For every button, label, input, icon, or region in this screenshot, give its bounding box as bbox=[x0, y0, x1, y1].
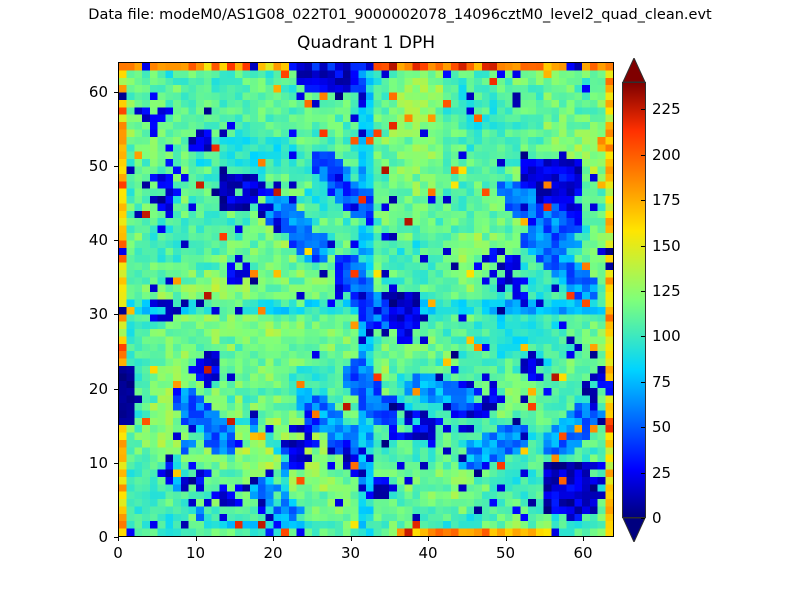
colorbar-tick-label: 50 bbox=[652, 418, 671, 436]
colorbar-gradient bbox=[623, 83, 645, 517]
y-tick-mark bbox=[114, 92, 118, 93]
x-tick-mark bbox=[118, 537, 119, 541]
colorbar-tick-mark bbox=[641, 518, 645, 519]
heatmap-image[interactable] bbox=[119, 63, 613, 536]
colorbar[interactable] bbox=[622, 58, 646, 542]
colorbar-tick-label: 200 bbox=[652, 146, 681, 164]
x-tick-mark bbox=[583, 537, 584, 541]
colorbar-extend-max-arrow bbox=[622, 58, 646, 83]
x-tick-mark bbox=[273, 537, 274, 541]
colorbar-extend-min-arrow bbox=[622, 517, 646, 542]
y-tick-label: 10 bbox=[66, 454, 108, 472]
colorbar-tick-mark bbox=[641, 336, 645, 337]
y-tick-mark bbox=[114, 314, 118, 315]
x-tick-label: 60 bbox=[573, 544, 592, 562]
x-tick-label: 0 bbox=[113, 544, 123, 562]
colorbar-tick-label: 0 bbox=[652, 509, 662, 527]
y-tick-label: 20 bbox=[66, 380, 108, 398]
x-tick-label: 10 bbox=[186, 544, 205, 562]
x-tick-mark bbox=[506, 537, 507, 541]
y-tick-label: 0 bbox=[66, 528, 108, 546]
x-tick-mark bbox=[351, 537, 352, 541]
colorbar-tick-mark bbox=[641, 291, 645, 292]
figure-canvas: Data file: modeM0/AS1G08_022T01_90000020… bbox=[0, 0, 800, 600]
colorbar-tick-label: 150 bbox=[652, 237, 681, 255]
x-tick-label: 30 bbox=[341, 544, 360, 562]
colorbar-tick-mark bbox=[641, 382, 645, 383]
colorbar-tick-label: 100 bbox=[652, 327, 681, 345]
colorbar-tick-mark bbox=[641, 427, 645, 428]
x-tick-label: 20 bbox=[263, 544, 282, 562]
y-tick-mark bbox=[114, 166, 118, 167]
x-tick-label: 50 bbox=[496, 544, 515, 562]
y-tick-label: 60 bbox=[66, 83, 108, 101]
y-tick-label: 50 bbox=[66, 157, 108, 175]
colorbar-tick-mark bbox=[641, 109, 645, 110]
y-tick-mark bbox=[114, 463, 118, 464]
colorbar-tick-mark bbox=[641, 473, 645, 474]
plot-title: Quadrant 1 DPH bbox=[118, 33, 614, 53]
colorbar-body[interactable] bbox=[622, 82, 646, 518]
y-tick-label: 30 bbox=[66, 305, 108, 323]
x-tick-mark bbox=[196, 537, 197, 541]
colorbar-tick-mark bbox=[641, 246, 645, 247]
colorbar-tick-label: 75 bbox=[652, 373, 671, 391]
y-tick-mark bbox=[114, 389, 118, 390]
heatmap-axes[interactable] bbox=[118, 62, 614, 537]
datafile-caption: Data file: modeM0/AS1G08_022T01_90000020… bbox=[0, 7, 800, 23]
x-tick-mark bbox=[428, 537, 429, 541]
colorbar-tick-mark bbox=[641, 155, 645, 156]
x-tick-label: 40 bbox=[418, 544, 437, 562]
y-tick-mark bbox=[114, 240, 118, 241]
colorbar-tick-label: 175 bbox=[652, 191, 681, 209]
colorbar-tick-label: 25 bbox=[652, 464, 671, 482]
colorbar-tick-label: 225 bbox=[652, 100, 681, 118]
colorbar-tick-mark bbox=[641, 200, 645, 201]
colorbar-tick-label: 125 bbox=[652, 282, 681, 300]
y-tick-label: 40 bbox=[66, 231, 108, 249]
y-tick-mark bbox=[114, 537, 118, 538]
